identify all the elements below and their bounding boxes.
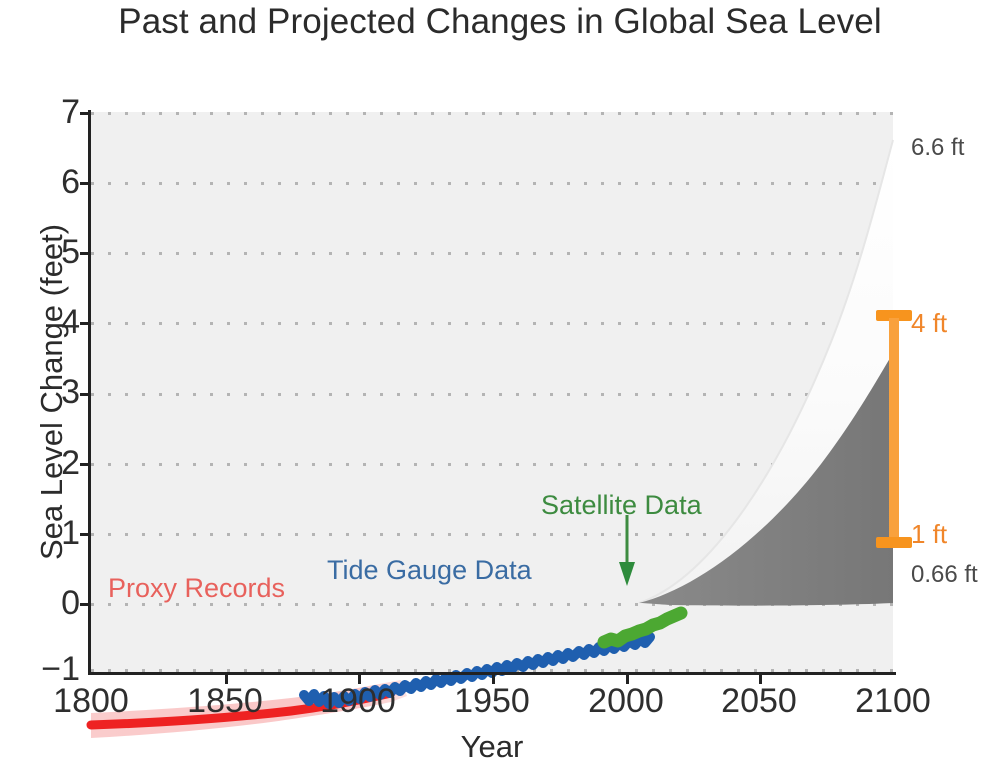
- x-tick-2000: 2000: [556, 684, 696, 718]
- annotation-tide-gauge-data: Tide Gauge Data: [327, 557, 532, 584]
- y-tickmark-7: [80, 112, 91, 115]
- y-tickmark-5: [80, 252, 91, 255]
- annotation-high-end-value: 6.6 ft: [911, 136, 964, 160]
- annotation-low-end-value: 0.66 ft: [911, 563, 978, 587]
- y-tickmark-4: [80, 322, 91, 325]
- annotation-satellite-data: Satellite Data: [541, 492, 702, 519]
- y-tickmark-2: [80, 463, 91, 466]
- chart-title: Past and Projected Changes in Global Sea…: [0, 2, 1000, 42]
- x-tick-1900: 1900: [288, 684, 428, 718]
- x-tickmark-1950: [492, 673, 495, 684]
- y-tickmark-1: [80, 533, 91, 536]
- x-tickmark-1900: [358, 673, 361, 684]
- annotation-bracket-lower-value: 1 ft: [911, 521, 947, 547]
- range-bracket-icon: [876, 310, 912, 550]
- x-tick-2050: 2050: [689, 684, 829, 718]
- x-tickmark-2050: [759, 673, 762, 684]
- sea-level-chart: Past and Projected Changes in Global Sea…: [0, 0, 1000, 770]
- x-tickmark-2000: [626, 673, 629, 684]
- annotation-proxy-records: Proxy Records: [108, 575, 285, 602]
- y-axis-title: Sea Level Change (feet): [34, 112, 70, 672]
- x-axis-title: Year: [91, 729, 893, 765]
- y-tickmark-3: [80, 393, 91, 396]
- x-tick-1950: 1950: [422, 684, 562, 718]
- annotation-bracket-upper-value: 4 ft: [911, 310, 947, 336]
- x-tick-2100: 2100: [823, 684, 963, 718]
- y-tickmark-0: [80, 603, 91, 606]
- x-tick-1850: 1850: [155, 684, 295, 718]
- y-tickmark-6: [80, 182, 91, 185]
- x-tick-1800: 1800: [21, 684, 161, 718]
- x-tickmark-1850: [225, 673, 228, 684]
